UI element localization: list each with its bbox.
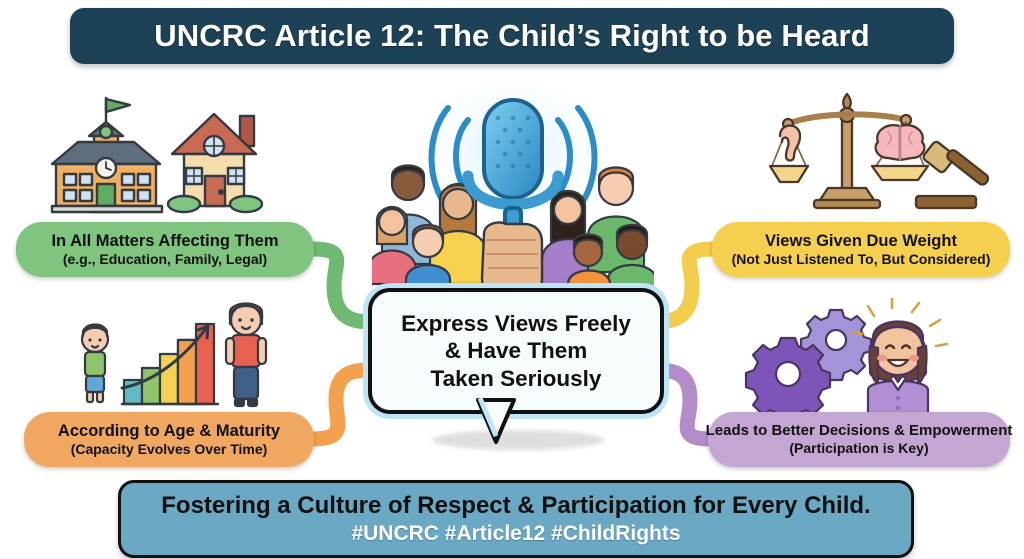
bubble-line-2: & Have Them: [445, 337, 588, 364]
gears-and-girl-illustration: [744, 298, 970, 418]
footer-hashtags: #UNCRC #Article12 #ChildRights: [351, 522, 680, 546]
connector-green: [312, 249, 372, 322]
speech-bubble-tail: [474, 398, 534, 446]
footer-main-text: Fostering a Culture of Respect & Partici…: [161, 492, 870, 520]
branch-title: Leads to Better Decisions & Empowerment: [706, 423, 1013, 440]
hand-icon: [482, 222, 542, 296]
infographic-canvas: UNCRC Article 12: The Child’s Right to b…: [0, 0, 1024, 559]
adult-icon: [226, 304, 266, 407]
smiling-girl-icon: [868, 322, 928, 419]
branch-title: According to Age & Maturity: [58, 422, 280, 440]
child-icon: [82, 325, 108, 403]
bubble-line-1: Express Views Freely: [401, 310, 631, 337]
branch-title: In All Matters Affecting Them: [51, 232, 278, 250]
branch-label-views-given-due-weight[interactable]: Views Given Due Weight (Not Just Listene…: [712, 222, 1010, 277]
ear-icon: [780, 126, 800, 161]
gavel-icon: [916, 140, 990, 208]
central-speech-bubble: Express Views Freely & Have Them Taken S…: [368, 288, 664, 414]
branch-label-leads-to-better-decisions[interactable]: Leads to Better Decisions & Empowerment …: [708, 412, 1010, 467]
gear-icon: [746, 338, 830, 418]
footer-banner: Fostering a Culture of Respect & Partici…: [118, 480, 914, 558]
branch-subtitle: (Capacity Evolves Over Time): [71, 441, 268, 457]
growth-chart-illustration: [62, 292, 288, 414]
school-and-house-illustration: [34, 92, 286, 220]
branch-label-in-all-matters[interactable]: In All Matters Affecting Them (e.g., Edu…: [16, 222, 314, 277]
branch-subtitle: (e.g., Education, Family, Legal): [63, 251, 267, 267]
microphone-and-children-illustration: [372, 84, 654, 296]
bubble-line-3: Taken Seriously: [431, 365, 602, 392]
branch-label-according-to-age[interactable]: According to Age & Maturity (Capacity Ev…: [24, 412, 314, 467]
branch-title: Views Given Due Weight: [765, 232, 957, 250]
branch-subtitle: (Participation is Key): [789, 440, 928, 456]
brain-icon: [876, 125, 925, 160]
balance-scale-illustration: [766, 88, 1008, 218]
flag-icon: [106, 99, 130, 112]
branch-subtitle: (Not Just Listened To, But Considered): [732, 251, 991, 267]
connector-orange: [312, 370, 372, 439]
